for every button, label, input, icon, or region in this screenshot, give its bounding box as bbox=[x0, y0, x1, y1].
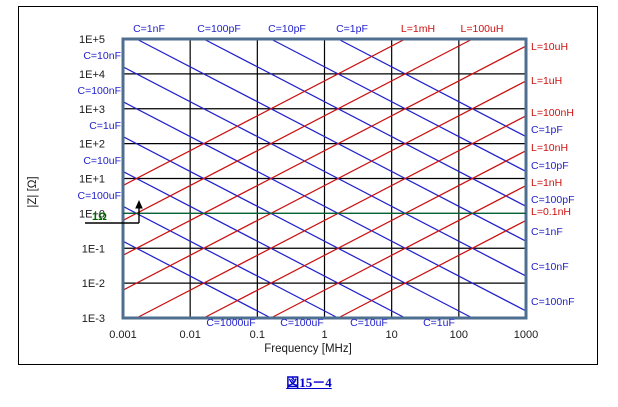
x-tick-label: 1 bbox=[321, 329, 327, 341]
x-axis-label: Frequency [MHz] bbox=[264, 343, 352, 355]
right-edge-label: C=10nF bbox=[531, 261, 569, 273]
right-edge-label: L=10nH bbox=[531, 142, 568, 154]
capacitor-line bbox=[123, 137, 472, 318]
figure-frame: 0.0010.010.111010010001E+51E+41E+31E+21E… bbox=[18, 6, 598, 365]
inductor-line bbox=[123, 39, 405, 186]
right-edge-label: C=1pF bbox=[531, 124, 563, 136]
one-ohm-label: 1Ω bbox=[92, 211, 107, 223]
capacitor-line bbox=[123, 171, 405, 318]
left-edge-label: C=100uF bbox=[78, 190, 122, 202]
left-edge-label: C=10nF bbox=[83, 50, 121, 62]
bottom-edge-label: C=1uF bbox=[423, 317, 455, 329]
bottom-edge-label: C=100uF bbox=[280, 317, 324, 329]
y-tick-label: 1E-1 bbox=[82, 243, 105, 255]
right-edge-label: C=10pF bbox=[531, 160, 569, 172]
inductor-line bbox=[271, 186, 526, 318]
capacitor-line bbox=[338, 39, 526, 137]
y-tick-label: 1E+3 bbox=[79, 104, 105, 116]
capacitor-line bbox=[137, 39, 526, 241]
capacitor-line bbox=[271, 39, 526, 171]
y-tick-label: 1E-3 bbox=[82, 313, 105, 325]
capacitor-line bbox=[123, 241, 271, 318]
right-edge-label: C=100nF bbox=[531, 296, 575, 308]
right-edge-label: C=1nF bbox=[531, 226, 563, 238]
right-edge-label: L=100nH bbox=[531, 107, 574, 119]
top-edge-label: L=1mH bbox=[401, 23, 435, 35]
capacitor-line bbox=[204, 39, 526, 206]
right-edge-label: L=1nH bbox=[531, 177, 562, 189]
figure-caption-link[interactable]: 図15－4 bbox=[286, 375, 332, 390]
impedance-nomograph-chart: 0.0010.010.111010010001E+51E+41E+31E+21E… bbox=[19, 7, 597, 364]
figure-page: 0.0010.010.111010010001E+51E+41E+31E+21E… bbox=[0, 0, 618, 407]
inductor-line bbox=[123, 39, 472, 220]
inductor-line bbox=[137, 116, 526, 318]
y-tick-label: 1E+2 bbox=[79, 139, 105, 151]
bottom-edge-label: C=1000uF bbox=[206, 317, 255, 329]
y-tick-label: 1E+4 bbox=[79, 69, 105, 81]
y-tick-label: 1E+5 bbox=[79, 34, 105, 46]
right-edge-label: L=10uH bbox=[531, 41, 568, 53]
x-tick-label: 0.001 bbox=[109, 329, 137, 341]
right-edge-label: C=100pF bbox=[531, 194, 575, 206]
top-edge-label: C=100pF bbox=[197, 23, 241, 35]
x-tick-label: 0.01 bbox=[179, 329, 200, 341]
y-tick-label: 1E+1 bbox=[79, 174, 105, 186]
top-edge-label: C=1pF bbox=[336, 23, 368, 35]
top-edge-label: C=1nF bbox=[133, 23, 165, 35]
x-tick-label: 100 bbox=[450, 329, 468, 341]
left-edge-label: C=10uF bbox=[83, 155, 121, 167]
top-edge-label: C=10pF bbox=[268, 23, 306, 35]
inductor-line bbox=[204, 151, 526, 318]
left-edge-label: C=100nF bbox=[78, 85, 122, 97]
x-tick-label: 0.1 bbox=[250, 329, 265, 341]
right-edge-label: L=0.1nH bbox=[531, 206, 571, 218]
bottom-edge-label: C=10uF bbox=[350, 317, 388, 329]
x-tick-label: 10 bbox=[386, 329, 398, 341]
x-tick-label: 1000 bbox=[514, 329, 538, 341]
y-tick-label: 1E-2 bbox=[82, 278, 105, 290]
y-axis-label: |Z| [Ω] bbox=[27, 176, 39, 207]
right-edge-label: L=1uH bbox=[531, 75, 562, 87]
inductor-line bbox=[338, 220, 526, 318]
capacitor-line bbox=[123, 206, 338, 318]
figure-caption: 図15－4 bbox=[0, 372, 618, 392]
left-edge-label: C=1uF bbox=[89, 120, 121, 132]
top-edge-label: L=100uH bbox=[461, 23, 504, 35]
